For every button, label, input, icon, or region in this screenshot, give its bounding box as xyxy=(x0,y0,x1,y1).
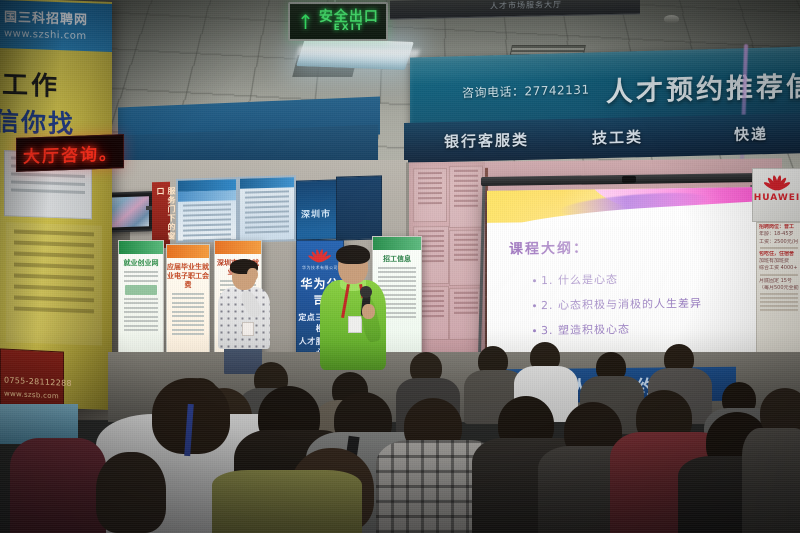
rollup-1-header xyxy=(119,241,163,254)
photo-scene: ↑ 安全出口 EXIT 人才市场服务大厅 咨询电话：27742131 人才预约推… xyxy=(0,0,800,533)
standing-attendee-on-phone xyxy=(216,262,272,370)
rollup-banner-1: 就业创业网 xyxy=(118,240,164,364)
projector-screen-assembly: 课程大纲： 1. 什么是心态 2. 心态积极与消极的人生差异 3. 塑造积极心态 xyxy=(487,181,757,380)
job-row: （每月500元全勤） xyxy=(759,285,799,291)
rollup-1-title: 就业创业网 xyxy=(119,259,163,268)
up-arrow-icon: ↑ xyxy=(297,12,314,32)
slide-bullet-3: 3. 塑造积极心态 xyxy=(533,320,702,338)
red-sign-url: www.szsb.com xyxy=(4,390,59,401)
attendee-badge xyxy=(242,322,254,336)
led-sign-text: 大厅咨询。 xyxy=(23,139,118,167)
rollup-banner-2: 应届毕业生就业电子职工会费 xyxy=(166,244,210,364)
audience-olive-shirt xyxy=(212,470,362,533)
presenter-hand xyxy=(362,304,375,319)
board-c-text: 深圳市 xyxy=(301,207,331,221)
job-notice-sheet xyxy=(413,168,447,222)
audience-head-front xyxy=(96,452,166,533)
job-notice-sheet xyxy=(449,230,483,286)
exit-sign-label-cn: 安全出口 xyxy=(319,10,379,24)
projected-slide: 课程大纲： 1. 什么是心态 2. 心态积极与消极的人生差异 3. 塑造积极心态 xyxy=(487,187,757,377)
bullet-dot-icon xyxy=(533,279,536,282)
red-vertical-sign: 服务门下的窗口 xyxy=(152,182,170,249)
red-vertical-sign-text: 服务门下的窗口 xyxy=(155,187,177,249)
slide-bullet-3-text: 3. 塑造积极心态 xyxy=(541,321,630,338)
presenter-hair xyxy=(336,245,370,264)
red-sign-phone: 0755-28112288 xyxy=(4,376,72,389)
led-scrolling-sign: 大厅咨询。 xyxy=(16,134,124,172)
banner-phone-text: 咨询电话：27742131 xyxy=(462,81,590,102)
exit-sign-label-en: EXIT xyxy=(334,24,365,33)
wall-info-board-c: 深圳市 xyxy=(296,179,338,240)
slide-title: 课程大纲： xyxy=(509,237,589,258)
job-row: 包吃住，住宿舍 xyxy=(759,251,799,257)
slide-bullet-list: 1. 什么是心态 2. 心态积极与消极的人生差异 3. 塑造积极心态 xyxy=(533,270,702,347)
board-b-header xyxy=(240,177,294,189)
job-row: 综合工资 4000+ xyxy=(759,265,799,271)
attendee-hand xyxy=(247,268,258,281)
board-a-wave xyxy=(178,190,236,202)
job-row: 加班有加班费 xyxy=(759,258,799,264)
slide-bullet-1-text: 1. 什么是心态 xyxy=(541,271,618,288)
screen-center-knob xyxy=(622,176,636,183)
audience-maroon-shirt xyxy=(10,438,106,533)
rollup-2-title: 应届毕业生就业电子职工会费 xyxy=(167,263,209,290)
rollup-2-header xyxy=(167,245,209,258)
huawei-brand-poster: HUAWEI xyxy=(752,168,800,222)
banner-title-text: 人才预约推荐信息 xyxy=(606,63,800,109)
category-courier: 快递 xyxy=(734,123,768,145)
wall-info-board-b xyxy=(238,175,296,243)
bullet-dot-icon xyxy=(533,329,536,332)
wall-info-board-a xyxy=(176,177,238,243)
category-bank-service: 银行客服类 xyxy=(444,129,529,152)
slide-bullet-2-text: 2. 心态积极与消极的人生差异 xyxy=(541,295,702,313)
microphone-head xyxy=(360,286,372,298)
wall-info-board-d xyxy=(336,175,382,240)
job-row: 月底固定 15号 xyxy=(759,278,799,284)
bullet-dot-icon xyxy=(533,304,536,307)
slide-header-decoration xyxy=(487,187,757,229)
huawei-wordmark: HUAWEI xyxy=(753,193,800,203)
presenter-id-badge xyxy=(348,316,362,333)
overhead-sign-text: 人才市场服务大厅 xyxy=(490,0,562,12)
audience-dark-shirt xyxy=(742,428,800,533)
category-technician: 技工类 xyxy=(592,126,643,148)
job-notice-sheet xyxy=(449,166,483,228)
presenter xyxy=(318,248,388,368)
huawei-logo-icon xyxy=(765,175,789,191)
rollup-3-header xyxy=(215,241,261,254)
emergency-exit-sign: ↑ 安全出口 EXIT xyxy=(288,2,388,41)
job-row: 工资：2500元/月 xyxy=(759,239,799,245)
job-row: 年龄：18-45岁 xyxy=(759,231,799,237)
slide-bullet-2: 2. 心态积极与消极的人生差异 xyxy=(533,295,702,313)
job-row: 招聘岗位：普工 xyxy=(759,224,799,230)
slide-bullet-1: 1. 什么是心态 xyxy=(533,270,702,288)
